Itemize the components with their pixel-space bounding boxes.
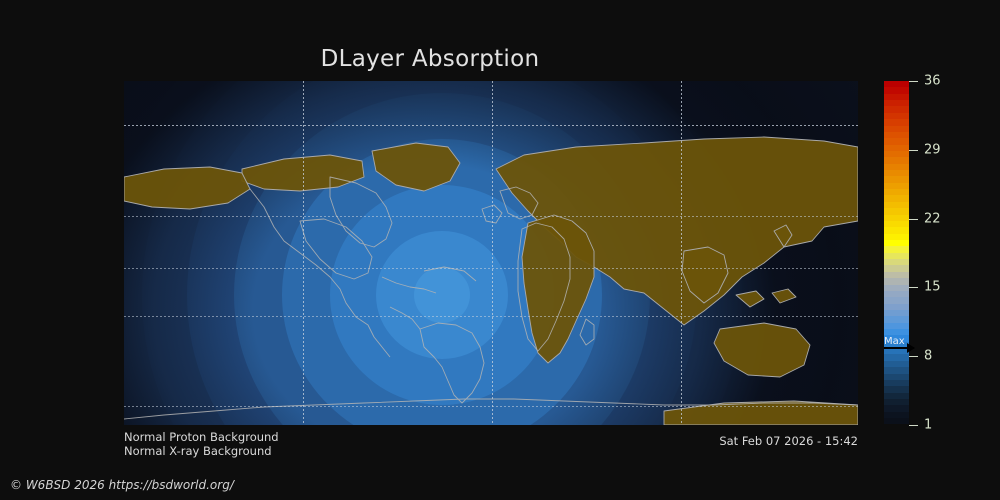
colorbar-max-marker: Max — [884, 336, 918, 347]
xray-background-note: Normal X-ray Background — [124, 444, 272, 458]
gridline-lat-0 — [124, 316, 858, 317]
gridline-lat-66 — [124, 125, 858, 126]
gridline-lon-0 — [492, 81, 493, 425]
colorbar-tick-mark — [909, 425, 918, 426]
colorbar-tick-mark — [909, 356, 918, 357]
colorbar-title: Affected Frequency (MHz) — [919, 81, 1000, 425]
colorbar-tick-mark — [909, 150, 918, 151]
timestamp: Sat Feb 07 2026 - 15:42 — [719, 434, 858, 448]
gridline-lat-23 — [124, 268, 858, 269]
colorbar-max-label: Max — [884, 336, 905, 347]
gridline-lat-40 — [124, 216, 858, 217]
colorbar-segment — [884, 418, 909, 424]
colorbar-tick-mark — [909, 219, 918, 220]
dlayer-absorption-page: DLayer Absorption — [0, 0, 1000, 500]
colorbar-tick-mark — [909, 287, 918, 288]
gridline-lat-m40 — [124, 406, 858, 407]
world-coastlines — [124, 81, 858, 425]
absorption-map[interactable] — [124, 81, 858, 425]
proton-background-note: Normal Proton Background — [124, 430, 279, 444]
gridline-lon-m90 — [303, 81, 304, 425]
colorbar[interactable] — [884, 81, 909, 425]
copyright-notice: © W6BSD 2026 https://bsdworld.org/ — [10, 478, 234, 492]
page-title: DLayer Absorption — [0, 46, 860, 72]
colorbar-tick-mark — [909, 81, 918, 82]
gridline-lon-90 — [681, 81, 682, 425]
max-arrow-icon — [884, 347, 914, 349]
